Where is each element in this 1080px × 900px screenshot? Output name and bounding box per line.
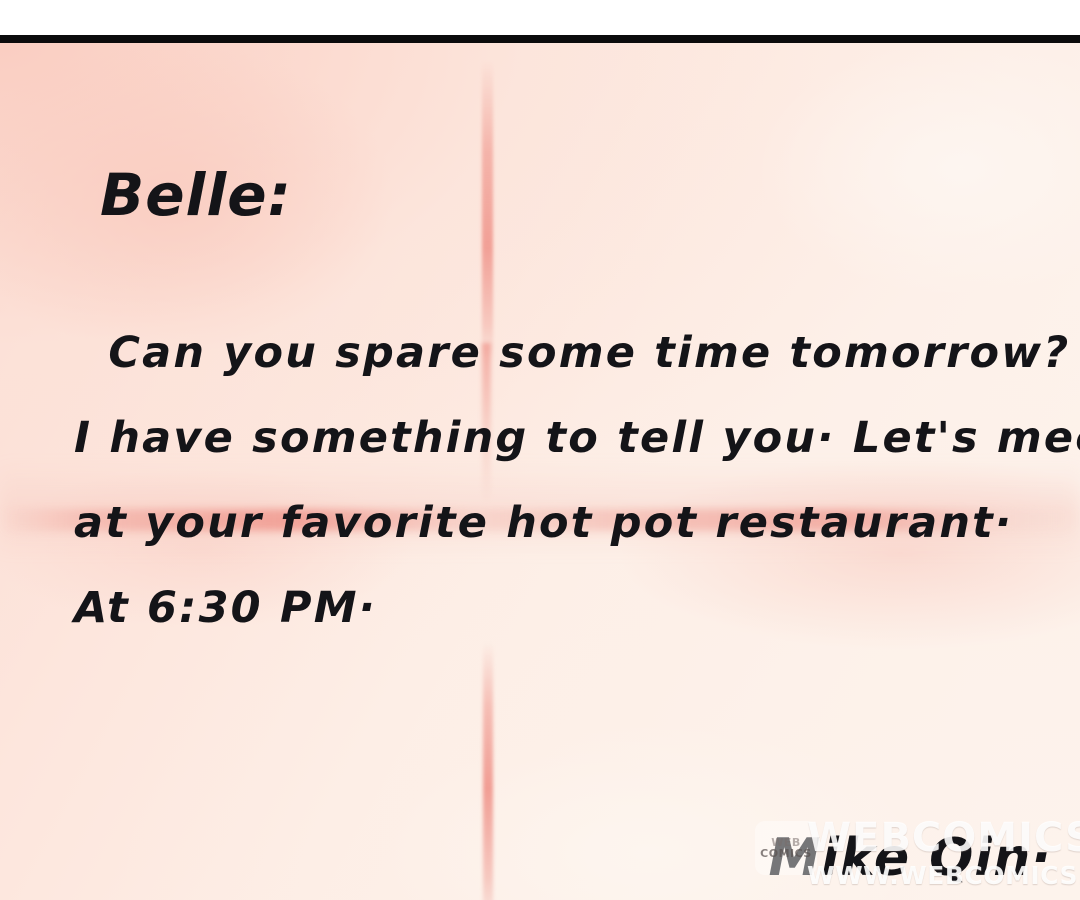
top-black-rule — [0, 35, 1080, 43]
letter-body-line-4: At 6:30 PM· — [74, 566, 1064, 651]
letter-text-block: Belle: Can you spare some time tomorrow?… — [0, 43, 1080, 900]
comic-letter-panel: Belle: Can you spare some time tomorrow?… — [0, 0, 1080, 900]
letter-body-line-2: I have something to tell you· Let's meet — [74, 396, 1064, 481]
letter-body-line-1: Can you spare some time tomorrow? — [74, 311, 1064, 396]
letter-paper: Belle: Can you spare some time tomorrow?… — [0, 43, 1080, 900]
letter-salutation: Belle: — [100, 161, 292, 229]
letter-body-line-3: at your favorite hot pot restaurant· — [74, 481, 1064, 566]
top-white-gutter — [0, 0, 1080, 35]
letter-body: Can you spare some time tomorrow? I have… — [74, 311, 1064, 651]
letter-signature: Mike Qin· — [769, 828, 1052, 888]
